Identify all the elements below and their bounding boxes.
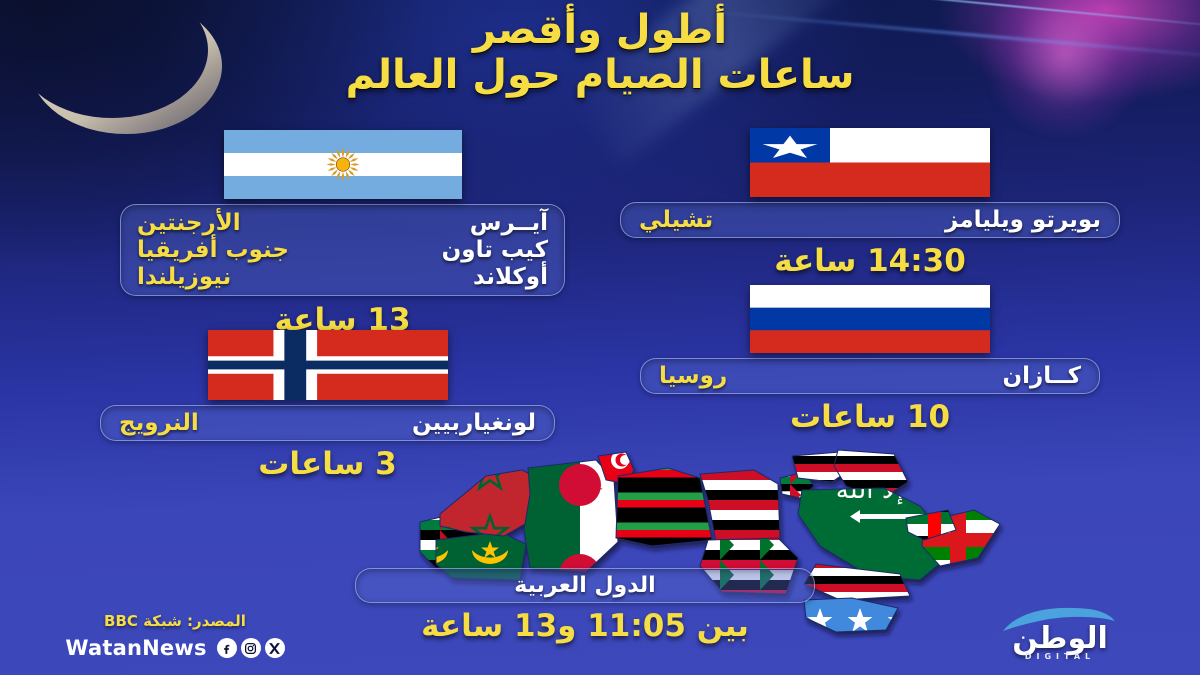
source-label: المصدر: شبكة BBC <box>40 612 310 630</box>
norway-flag <box>208 330 448 400</box>
logo-wordmark: الوطن <box>985 621 1135 656</box>
page-title: أطول وأقصر ساعات الصيام حول العالم <box>0 8 1200 98</box>
russia-flag <box>750 285 990 353</box>
arab-countries-pill: الدول العربية <box>355 568 815 603</box>
country-name: تشيلي <box>639 207 713 233</box>
country-name: جنوب أفريقيا <box>137 237 289 263</box>
fasting-hours-value: 10 ساعات <box>640 399 1100 435</box>
location-row: أوكلاند نيوزيلندا <box>137 264 548 290</box>
card-russia: كــازان روسيا 10 ساعات <box>640 285 1100 435</box>
location-row: آيــرس الأرجنتين <box>137 210 548 236</box>
country-name: النرويج <box>119 410 199 436</box>
social-bar: WatanNews <box>40 636 310 660</box>
instagram-icon[interactable] <box>241 638 261 658</box>
city-name: كــازان <box>1003 363 1082 389</box>
headline-line-2: ساعات الصيام حول العالم <box>0 53 1200 98</box>
chile-location-pill: بويرتو ويليامز تشيلي <box>620 202 1120 238</box>
chile-flag <box>750 128 990 197</box>
fasting-hours-value: 14:30 ساعة <box>620 243 1120 279</box>
fasting-hours-value: بين 11:05 و13 ساعة <box>355 608 815 644</box>
facebook-icon[interactable] <box>217 638 237 658</box>
card-argentina: آيــرس الأرجنتين كيب تاون جنوب أفريقيا أ… <box>120 130 565 338</box>
card-chile: بويرتو ويليامز تشيلي 14:30 ساعة <box>620 128 1120 279</box>
country-name: الأرجنتين <box>137 210 241 236</box>
city-name: كيب تاون <box>442 237 548 263</box>
infographic-canvas: أطول وأقصر ساعات الصيام حول العالم <box>0 0 1200 675</box>
city-name: لونغياربيين <box>412 410 536 436</box>
argentina-locations-pill: آيــرس الأرجنتين كيب تاون جنوب أفريقيا أ… <box>120 204 565 296</box>
region-name: الدول العربية <box>514 573 655 598</box>
x-twitter-icon[interactable] <box>265 638 285 658</box>
card-arab-countries: الدول العربية بين 11:05 و13 ساعة <box>355 568 815 644</box>
city-name: آيــرس <box>470 210 548 236</box>
argentina-flag <box>224 130 462 199</box>
city-name: أوكلاند <box>473 264 548 290</box>
location-row: كيب تاون جنوب أفريقيا <box>137 237 548 263</box>
norway-location-pill: لونغياربيين النرويج <box>100 405 555 441</box>
social-handle: WatanNews <box>65 636 206 660</box>
logo-subtitle: DIGITAL <box>985 652 1135 661</box>
country-name: روسيا <box>659 363 727 389</box>
city-name: بويرتو ويليامز <box>945 207 1101 233</box>
headline-line-1: أطول وأقصر <box>0 8 1200 53</box>
country-name: نيوزيلندا <box>137 264 231 290</box>
watan-digital-logo: الوطن DIGITAL <box>985 607 1135 669</box>
russia-location-pill: كــازان روسيا <box>640 358 1100 394</box>
